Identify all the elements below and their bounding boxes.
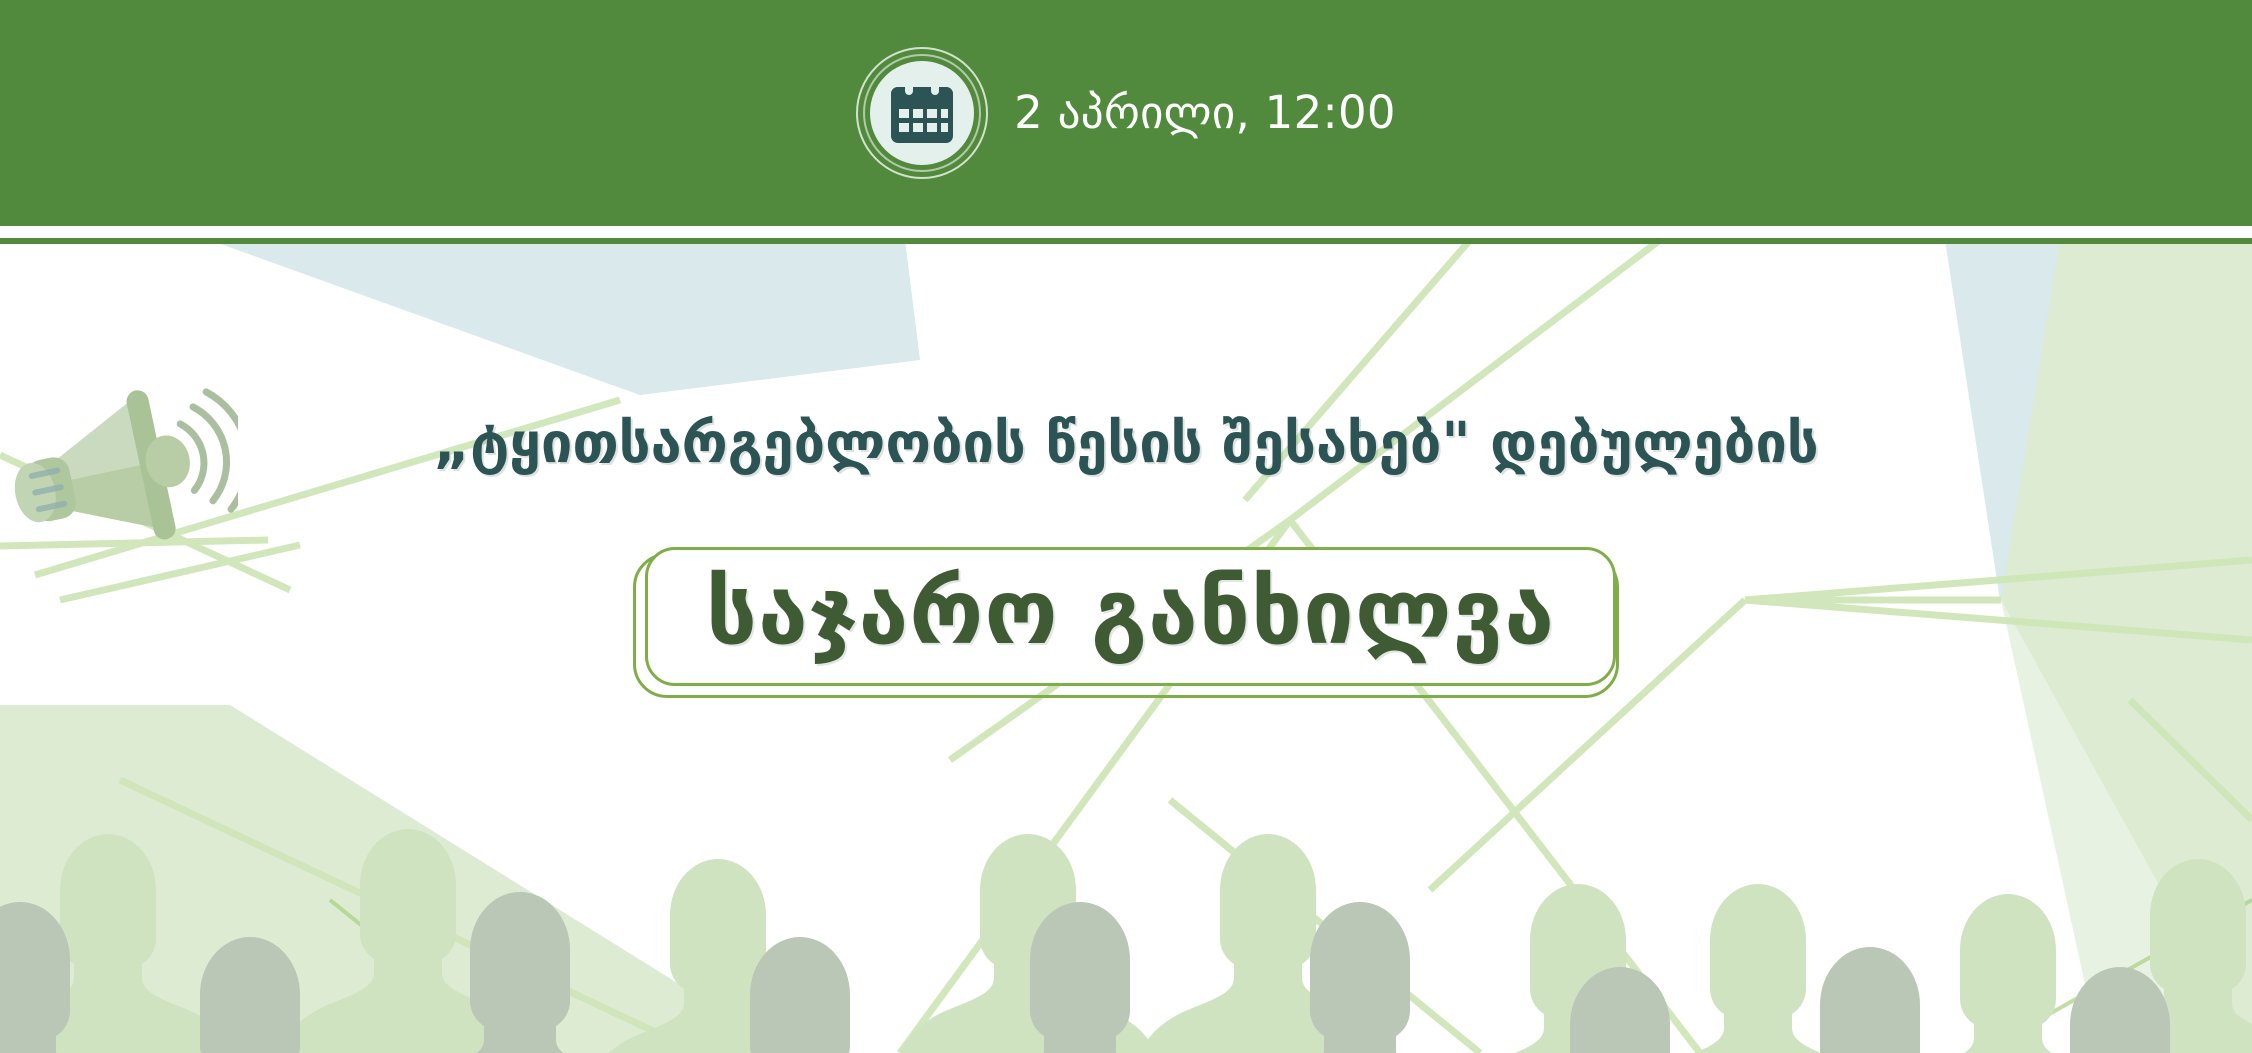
calendar-icon bbox=[856, 47, 988, 179]
calendar-glyph bbox=[886, 77, 958, 149]
event-datetime: 2 აპრილი, 12:00 bbox=[1014, 90, 1396, 137]
poster-headline: საჯარო განხილვა bbox=[706, 566, 1555, 661]
header-bar: 2 აპრილი, 12:00 bbox=[0, 0, 2252, 226]
megaphone-icon bbox=[8, 385, 238, 570]
poster-canvas: 2 აპრილი, 12:00 „ტყითსარგებლობის წესის შ… bbox=[0, 0, 2252, 1053]
headline-container: საჯარო განხილვა bbox=[0, 553, 2252, 698]
header-divider-rule bbox=[0, 238, 2252, 244]
poster-subtitle: „ტყითსარგებლობის წესის შესახებ" დებულები… bbox=[0, 415, 2252, 474]
headline-inner-frame: საჯარო განხილვა bbox=[645, 547, 1616, 686]
headline-outer-frame: საჯარო განხილვა bbox=[633, 553, 1619, 698]
